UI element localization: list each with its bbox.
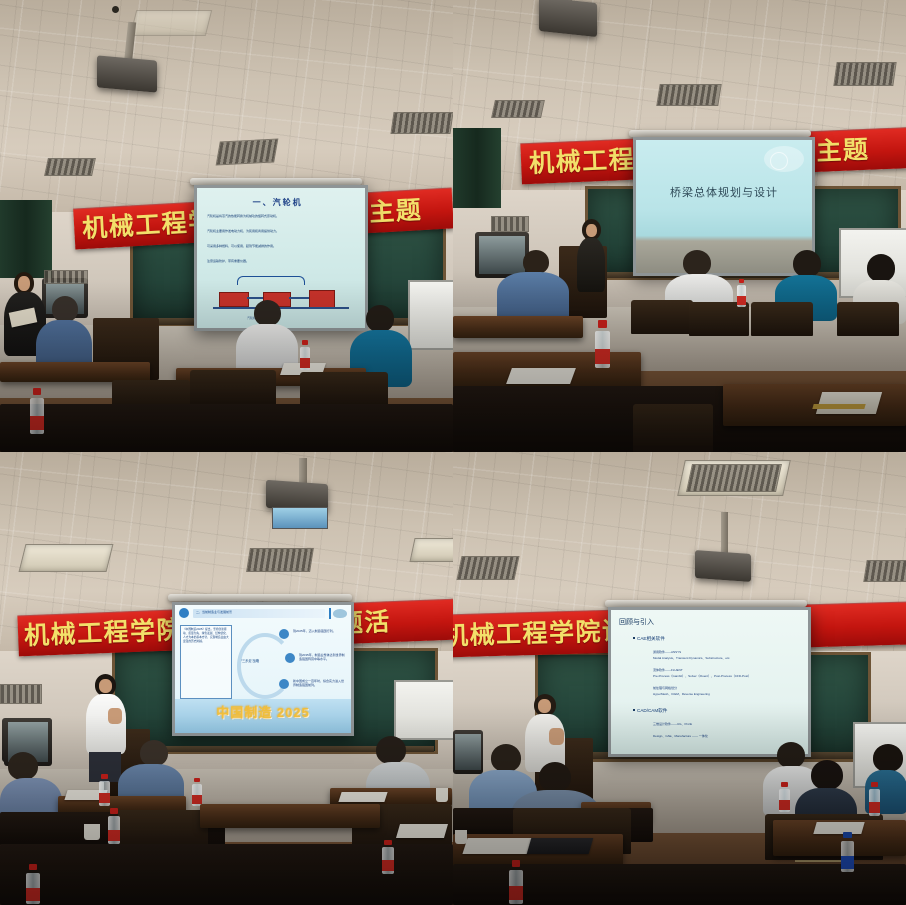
ceiling-vent-grille [246,548,314,572]
collage-panel-top-left: 机械工程学院课…练兵” 主题 一、汽轮机 汽轮机是将蒸汽的热能转换为机械功的旋转… [0,0,453,452]
slide-title: 回顾与引入 [619,617,654,627]
collage-panel-top-right: 机械工程学院课…练兵” 主题 桥梁总体规划与设计 [453,0,906,452]
ceiling-vent-grille [216,138,279,165]
water-bottle [382,840,394,874]
whiteboard-easel [394,680,453,740]
water-bottle [108,808,120,844]
slide-section-heading: CAD/CAM软件 [637,708,667,714]
drinking-cup [436,788,448,802]
ceiling-vent-grille [833,62,896,86]
ceiling-projector [97,55,157,92]
window-curtain [453,128,501,208]
presenter-standing [577,219,605,293]
ceiling-vent-grille [863,560,906,582]
slide-header: 二、当前制造业与发展前景 [196,610,232,614]
ceiling-vent-grille [686,464,782,492]
water-bottle [30,388,44,434]
water-bottle [509,860,523,904]
slide-bullet: 注意运输防护，带有重要仪器。 [207,259,249,263]
slide-bullet: 汽轮机主要用作发电动力机，为民用和商用提供动力。 [207,229,279,233]
collage-panel-bottom-left: 机械工程学院课…练兵” 主题活 二、当前制造业与发展前景 《中国制造2025》提… [0,452,453,905]
whiteboard-easel [408,280,453,350]
water-bottle [300,340,310,370]
open-book [816,392,882,414]
ceiling-projector [539,0,597,37]
slide-title: 中国制造 2025 [216,702,310,721]
projector-mount-arm [299,458,307,484]
slide-section-heading: CAE相关软件 [637,636,665,642]
water-bottle [869,782,880,816]
slide-title: 一、汽轮机 [253,197,303,208]
photo-collage-grid: 机械工程学院课…练兵” 主题 一、汽轮机 汽轮机是将蒸汽的热能转换为机械功的旋转… [0,0,906,905]
water-bottle [737,279,746,307]
water-bottle [99,774,110,806]
ceiling-vent-grille [44,158,96,176]
slide-bullet: 可采用多种燃料，可以使用，起到节能减排的作用。 [207,244,276,248]
gesturing-hands [108,708,122,724]
water-bottle [595,320,610,368]
drinking-cup [455,830,467,844]
slide-title: 桥梁总体规划与设计 [670,184,778,200]
slide-quote-box: 《中国制造2025》提出，坚持创新驱动、质量为先、绿色发展、结构优化、人才为本的… [180,625,232,699]
water-bottle [779,782,790,812]
water-bottle [841,832,854,872]
ceiling-vent-grille [656,84,721,106]
drinking-cup [84,824,100,840]
slide-review-and-intro: 回顾与引入 CAE相关软件 通用软件——ANSYS Modal Analysis… [611,610,808,754]
water-bottle [26,864,40,904]
window-curtain [0,200,52,278]
slide-center-label: “三步走”战略 [241,659,259,663]
water-bottle [192,778,202,806]
seated-attendee [497,250,569,322]
ceiling-vent-grille [390,112,453,134]
ceiling-vent-grille [456,556,519,580]
ceiling-vent-grille [491,100,545,118]
slide-made-in-china-2025: 二、当前制造业与发展前景 《中国制造2025》提出，坚持创新驱动、质量为先、绿色… [175,605,351,733]
collage-panel-bottom-right: 机械工程学院课…练兵” 主题 回顾与引入 CAE相关软件 通用软件——ANSYS… [453,452,906,905]
projector-mount-arm [721,512,728,554]
projection-screen: 二、当前制造业与发展前景 《中国制造2025》提出，坚持创新驱动、质量为先、绿色… [172,602,354,736]
slide-bullet: 汽轮机是将蒸汽的热能转换为机械功的旋转式原动机。 [207,214,279,218]
slide-ring-graphic [237,633,293,699]
gesturing-hands [549,728,564,745]
ceiling-projector [695,550,751,582]
open-book [527,838,594,854]
projection-screen: 回顾与引入 CAE相关软件 通用软件——ANSYS Modal Analysis… [608,607,811,757]
